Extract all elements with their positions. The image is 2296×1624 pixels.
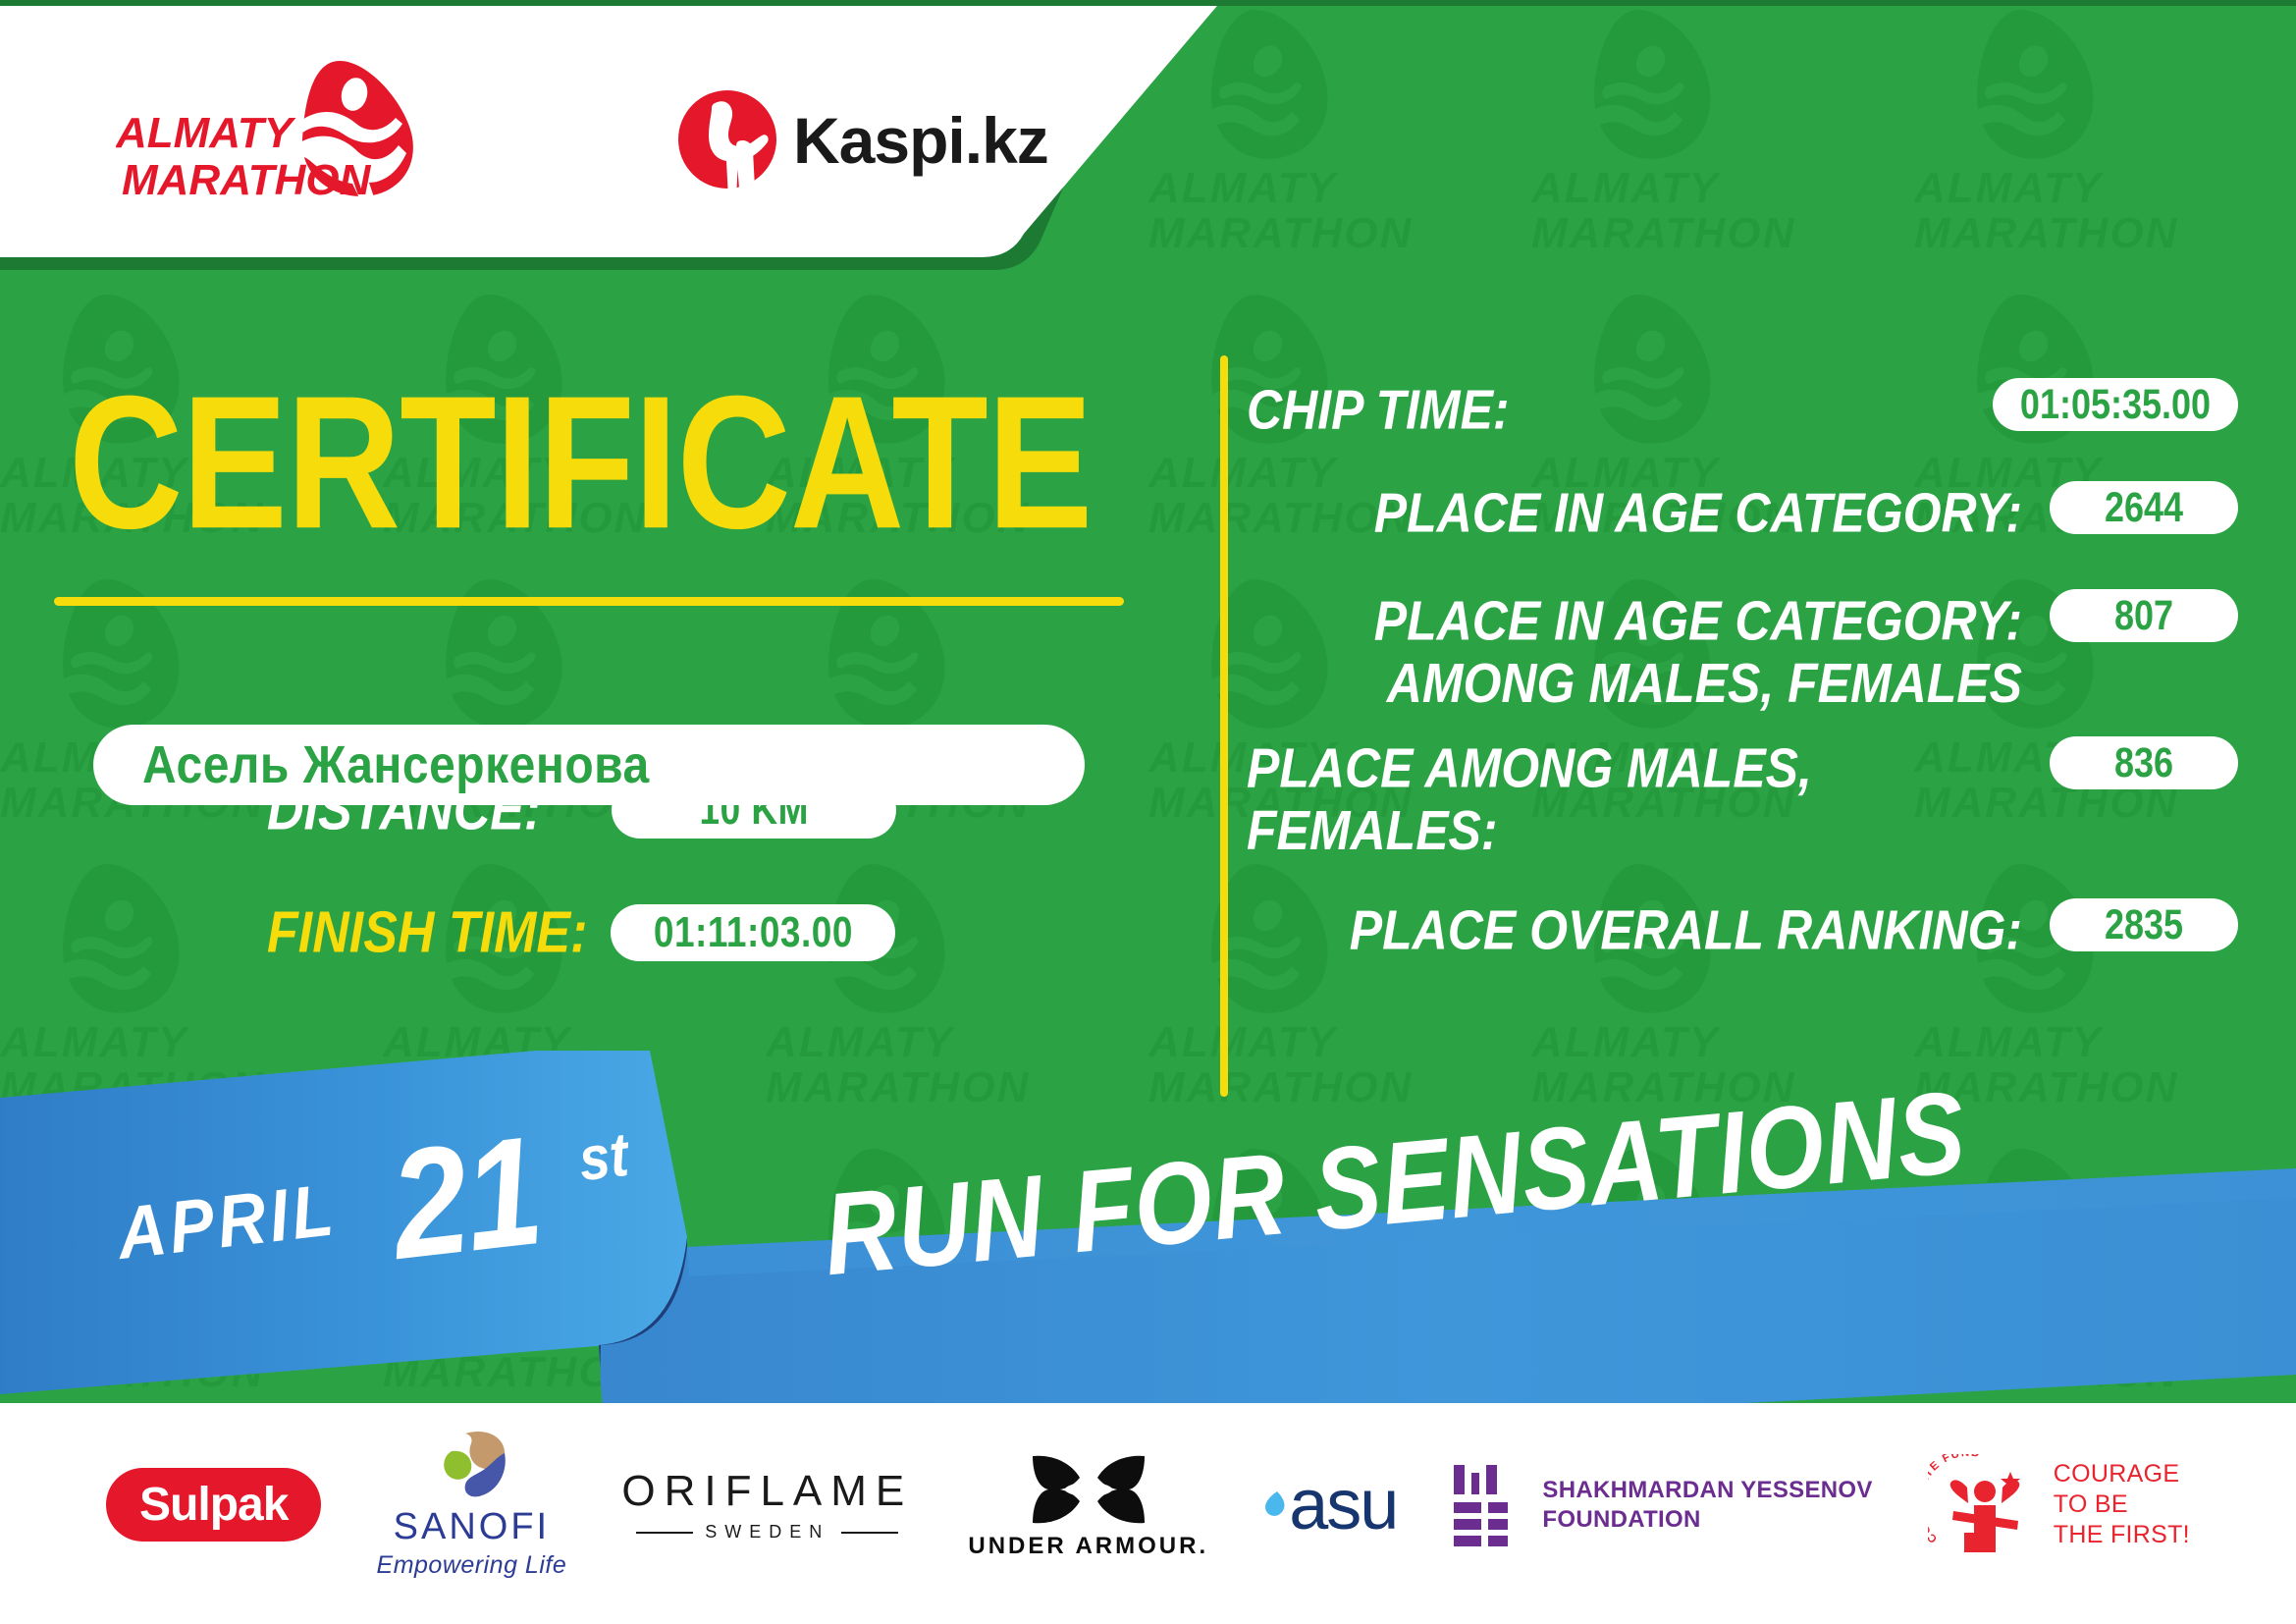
yessenov-line-2: FOUNDATION bbox=[1542, 1505, 1872, 1535]
divider-left bbox=[636, 1532, 693, 1534]
kaspi-kz-logo: Kaspi.kz bbox=[677, 86, 1090, 192]
almaty-text: ALMATY bbox=[116, 109, 296, 157]
place-age-category-value: 2644 bbox=[2105, 483, 2183, 532]
label-line-2: FEMALES: bbox=[1247, 799, 2022, 862]
stat-row-place-age-category-among: PLACE IN AGE CATEGORY: AMONG MALES, FEMA… bbox=[1247, 589, 2238, 699]
divider-right bbox=[841, 1532, 898, 1534]
corporate-fund-arc-text: CORPORATE FUND bbox=[1928, 1454, 1982, 1544]
oriflame-country: SWEDEN bbox=[705, 1522, 829, 1543]
place-age-category-among-value: 807 bbox=[2114, 591, 2173, 640]
sponsor-courage-to-be-the-first: CORPORATE FUND COURAGE TO BE THE FIRST! bbox=[1928, 1454, 2190, 1556]
ribbon-day: 21 bbox=[383, 1103, 549, 1296]
ribbon-month: APRIL bbox=[113, 1167, 341, 1276]
label-line-2: AMONG MALES, FEMALES bbox=[1247, 652, 2022, 715]
marathon-text: MARATHON bbox=[122, 156, 372, 204]
sponsor-sanofi: SANOFI Empowering Life bbox=[377, 1430, 567, 1580]
place-among-value: 836 bbox=[2114, 738, 2173, 787]
asu-wordmark: asu bbox=[1289, 1465, 1397, 1545]
yessenov-mark-icon bbox=[1452, 1463, 1521, 1547]
oriflame-sub: SWEDEN bbox=[636, 1522, 898, 1543]
courage-wordmark: COURAGE TO BE THE FIRST! bbox=[2054, 1459, 2190, 1551]
sponsor-yessenov-foundation: SHAKHMARDAN YESSENOV FOUNDATION bbox=[1452, 1463, 1872, 1547]
chip-time-label: CHIP TIME: bbox=[1247, 378, 1993, 441]
courage-line-3: THE FIRST! bbox=[2054, 1520, 2190, 1550]
under-armour-wordmark: UNDER ARMOUR. bbox=[968, 1533, 1208, 1560]
sponsor-under-armour: UNDER ARMOUR. bbox=[968, 1450, 1208, 1560]
place-age-category-label: PLACE IN AGE CATEGORY: bbox=[1247, 481, 2050, 544]
chip-time-value-pill: 01:05:35.00 bbox=[1993, 378, 2238, 431]
sponsor-oriflame: ORIFLAME SWEDEN bbox=[621, 1467, 913, 1543]
stat-row-place-among-males-females: PLACE AMONG MALES, FEMALES: 836 bbox=[1247, 736, 2238, 846]
ribbon-day-suffix: st bbox=[575, 1118, 632, 1195]
stats-column: CHIP TIME: 01:05:35.00 PLACE IN AGE CATE… bbox=[1247, 324, 2238, 1100]
place-age-category-among-value-pill: 807 bbox=[2050, 589, 2238, 642]
header-logos: ALMATY MARATHON Kaspi.kz bbox=[0, 0, 1178, 265]
chip-time-value: 01:05:35.00 bbox=[2020, 380, 2211, 429]
under-armour-mark-icon bbox=[1025, 1450, 1152, 1529]
asu-drop-icon bbox=[1263, 1489, 1289, 1521]
place-age-category-value-pill: 2644 bbox=[2050, 481, 2238, 534]
sanofi-mark-icon bbox=[430, 1430, 512, 1500]
courage-line-2: TO BE bbox=[2054, 1489, 2190, 1520]
kaspi-mark-icon bbox=[678, 90, 776, 192]
certificate-card: ALMATY MARATHON bbox=[0, 0, 2296, 1624]
sponsor-sulpak: Sulpak bbox=[106, 1468, 321, 1542]
yessenov-wordmark: SHAKHMARDAN YESSENOV FOUNDATION bbox=[1542, 1476, 1872, 1535]
stat-row-place-overall-ranking: PLACE OVERALL RANKING: 2835 bbox=[1247, 898, 2238, 953]
place-among-value-pill: 836 bbox=[2050, 736, 2238, 789]
courage-fund-mark-icon: CORPORATE FUND bbox=[1928, 1454, 2038, 1556]
yessenov-line-1: SHAKHMARDAN YESSENOV bbox=[1542, 1476, 1872, 1505]
vertical-divider bbox=[1220, 355, 1228, 1097]
sponsor-strip: Sulpak SANOFI Empowering Life ORIFLAME S… bbox=[0, 1403, 2296, 1624]
place-overall-value: 2835 bbox=[2105, 900, 2183, 949]
courage-line-1: COURAGE bbox=[2054, 1459, 2190, 1489]
sponsor-asu: asu bbox=[1263, 1465, 1397, 1545]
ribbon-slogan: RUN FOR SENSATIONS bbox=[819, 1065, 1971, 1302]
kaspi-wordmark: Kaspi.kz bbox=[793, 104, 1048, 177]
svg-text:CORPORATE FUND: CORPORATE FUND bbox=[1928, 1454, 1982, 1544]
sanofi-tagline: Empowering Life bbox=[377, 1551, 567, 1580]
stat-row-place-age-category: PLACE IN AGE CATEGORY: 2644 bbox=[1247, 481, 2238, 536]
stat-row-chip-time: CHIP TIME: 01:05:35.00 bbox=[1247, 378, 2238, 433]
oriflame-wordmark: ORIFLAME bbox=[621, 1467, 913, 1516]
place-age-category-among-label: PLACE IN AGE CATEGORY: AMONG MALES, FEMA… bbox=[1247, 589, 2050, 715]
participant-name: Асель Жансеркенова bbox=[142, 734, 650, 795]
participant-name-field: Асель Жансеркенова bbox=[93, 725, 1085, 805]
left-column: CERTIFICATE Асель Жансеркенова bbox=[0, 324, 1217, 1070]
label-line-1: PLACE IN AGE CATEGORY: bbox=[1247, 589, 2022, 652]
place-overall-value-pill: 2835 bbox=[2050, 898, 2238, 951]
place-among-label: PLACE AMONG MALES, FEMALES: bbox=[1247, 736, 2050, 862]
almaty-marathon-logo: ALMATY MARATHON bbox=[116, 57, 440, 204]
label-line-1: PLACE AMONG MALES, bbox=[1247, 736, 2022, 799]
page-title: CERTIFICATE bbox=[69, 368, 1092, 558]
title-underline bbox=[54, 597, 1124, 606]
sanofi-wordmark: SANOFI bbox=[394, 1506, 550, 1548]
place-overall-label: PLACE OVERALL RANKING: bbox=[1247, 898, 2050, 961]
sulpak-wordmark: Sulpak bbox=[106, 1468, 321, 1542]
